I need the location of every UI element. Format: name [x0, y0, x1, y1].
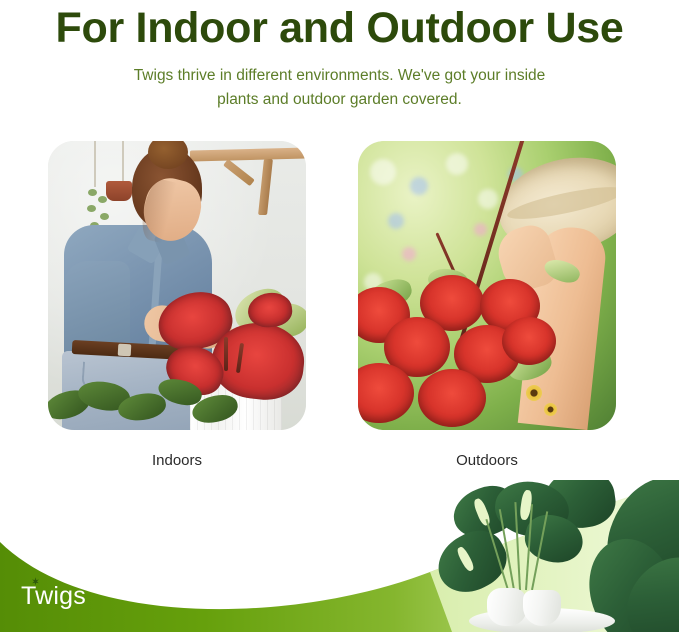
hanging-planter-rope-right [122, 141, 124, 181]
indoors-photo [48, 141, 306, 430]
photo-card-row [0, 141, 679, 431]
brand-footer: Twigs [0, 480, 679, 632]
caladium-stem-1 [224, 337, 228, 371]
sunflower-bloom-2 [544, 403, 557, 416]
sunflower-bloom-1 [526, 385, 542, 401]
page-subtitle: Twigs thrive in different environments. … [120, 64, 560, 112]
belt-buckle [118, 344, 132, 357]
outdoors-photo [358, 141, 616, 430]
white-pot-left [487, 588, 527, 626]
photo-card-outdoors [358, 141, 616, 430]
brand-wordmark[interactable]: Twigs [21, 582, 86, 610]
page-title: For Indoor and Outdoor Use [0, 2, 679, 54]
foreground-foliage [48, 376, 242, 430]
hanging-planter-rope-left [94, 141, 96, 187]
photo-card-indoors [48, 141, 306, 430]
red-flower-7 [418, 369, 486, 427]
caption-indoors: Indoors [48, 451, 306, 471]
promo-page: For Indoor and Outdoor Use Twigs thrive … [0, 0, 679, 632]
caption-outdoors: Outdoors [358, 451, 616, 471]
red-flower-8 [502, 317, 556, 365]
footer-plant-illustration [417, 480, 679, 632]
